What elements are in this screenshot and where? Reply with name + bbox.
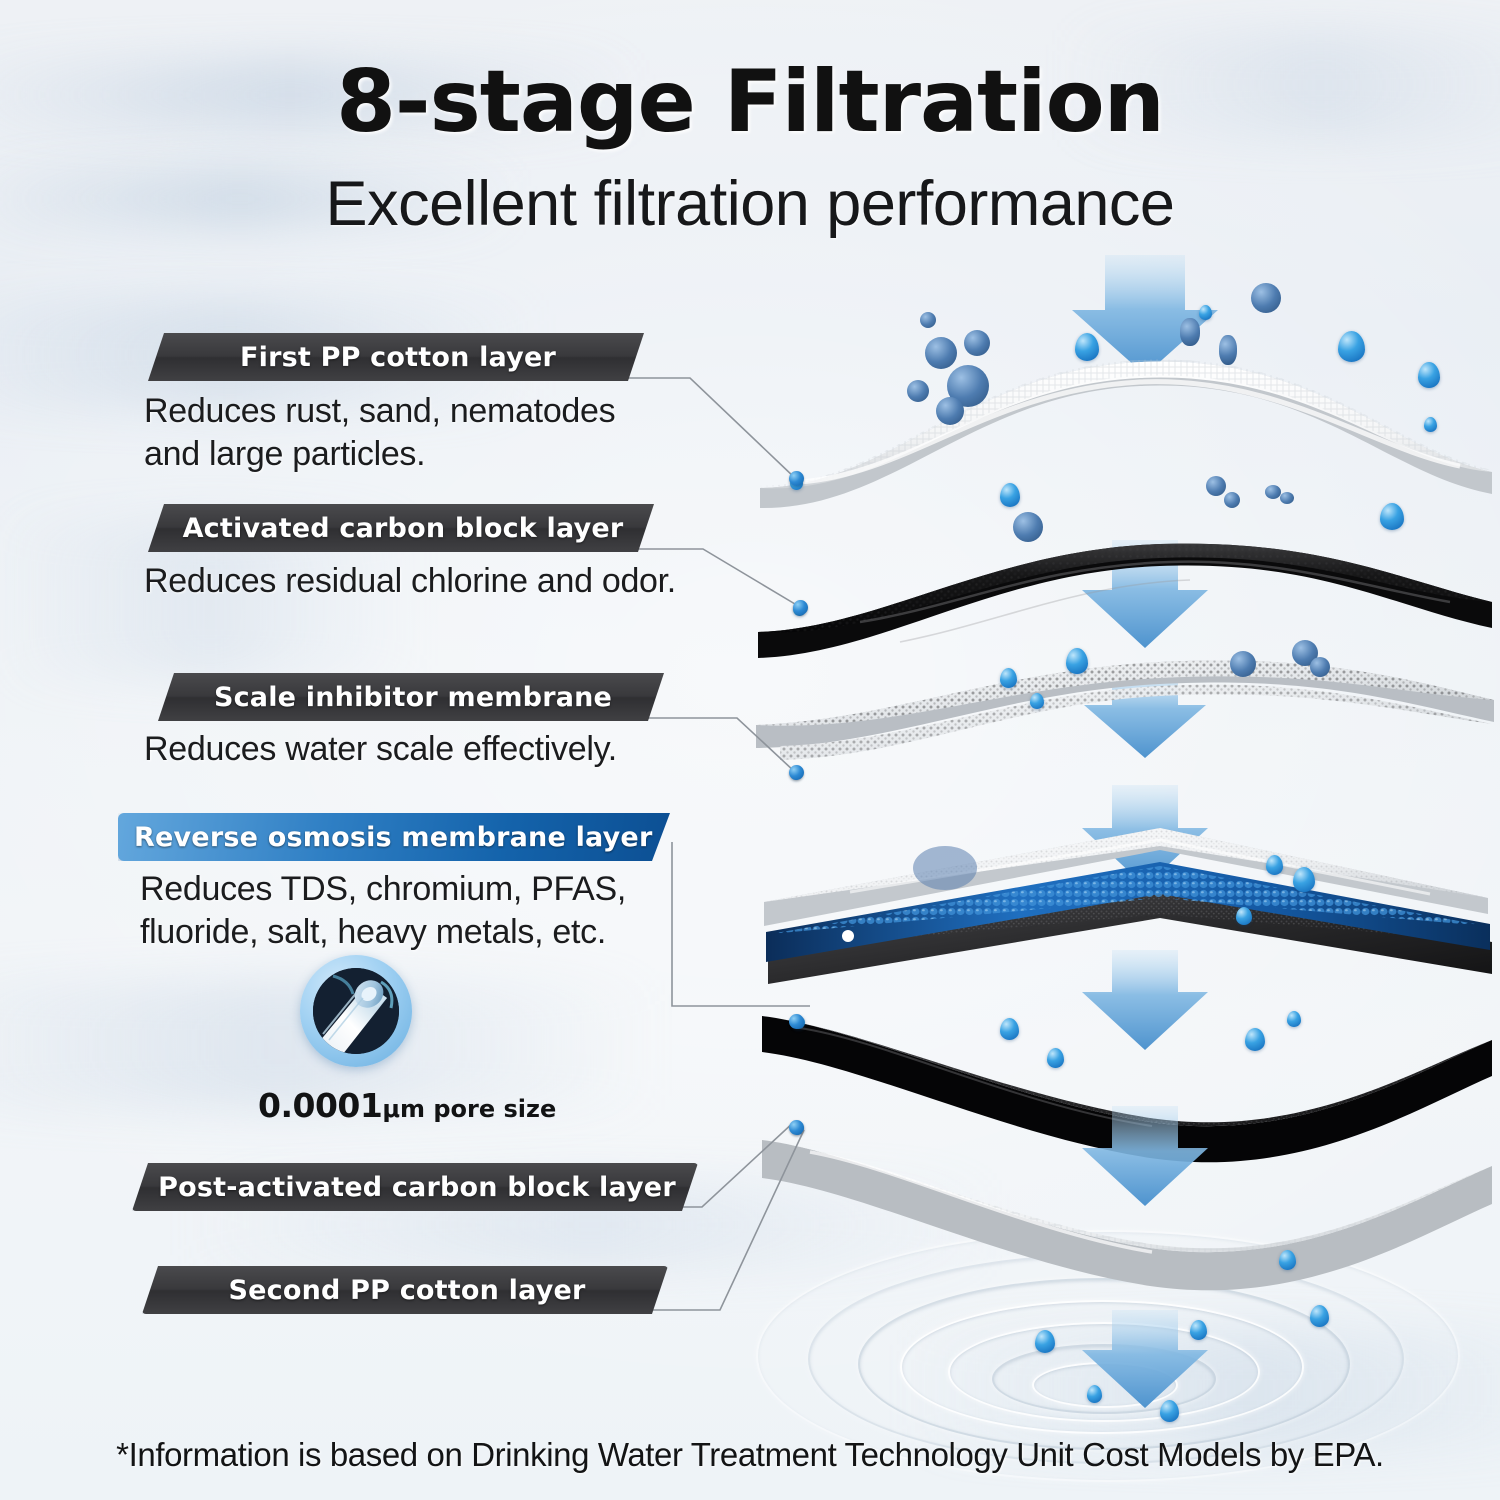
badge-label: Activated carbon block layer	[183, 513, 624, 544]
badge-label: Reverse osmosis membrane layer	[134, 822, 652, 853]
badge-label: Scale inhibitor membrane	[214, 682, 612, 713]
badge-label: Second PP cotton layer	[228, 1275, 585, 1306]
badge-reverse-osmosis-membrane[interactable]: Reverse osmosis membrane layer	[118, 813, 670, 861]
badge-post-activated-carbon-block[interactable]: Post-activated carbon block layer	[132, 1163, 698, 1211]
infographic-canvas: 8-stage Filtration Excellent filtration …	[0, 0, 1500, 1500]
page-title: 8-stage Filtration	[0, 52, 1500, 152]
badge-activated-carbon-block[interactable]: Activated carbon block layer	[148, 504, 654, 552]
description-scale-inhibitor-membrane: Reduces water scale effectively.	[144, 728, 744, 771]
pore-size-value: 0.0001	[258, 1086, 382, 1125]
ro-membrane-element-icon	[300, 955, 412, 1067]
description-line-2: and large particles.	[144, 433, 704, 476]
description-reverse-osmosis-membrane: Reduces TDS, chromium, PFAS, fluoride, s…	[140, 868, 740, 953]
leader-endpoint-dot	[789, 1014, 804, 1029]
badge-scale-inhibitor-membrane[interactable]: Scale inhibitor membrane	[158, 673, 664, 721]
leader-endpoint-dot	[789, 471, 804, 486]
description-activated-carbon-block: Reduces residual chlorine and odor.	[144, 560, 744, 603]
badge-label: First PP cotton layer	[240, 342, 556, 373]
description-line-1: Reduces water scale effectively.	[144, 728, 744, 771]
leader-endpoint-dot	[789, 765, 804, 780]
filter-layer-stack-illustration	[740, 250, 1500, 1410]
pore-size-unit: μm pore size	[382, 1095, 556, 1123]
badge-first-pp-cotton[interactable]: First PP cotton layer	[148, 333, 644, 381]
footnote-text: *Information is based on Drinking Water …	[0, 1436, 1500, 1474]
pore-size-label: 0.0001μm pore size	[258, 1086, 556, 1125]
description-line-1: Reduces TDS, chromium, PFAS,	[140, 868, 740, 911]
description-first-pp-cotton: Reduces rust, sand, nematodes and large …	[144, 390, 704, 475]
leader-endpoint-dot	[793, 600, 808, 615]
description-line-2: fluoride, salt, heavy metals, etc.	[140, 911, 740, 954]
leader-endpoint-dot	[789, 1120, 804, 1135]
badge-label: Post-activated carbon block layer	[158, 1172, 676, 1203]
description-line-1: Reduces rust, sand, nematodes	[144, 390, 704, 433]
pore-size-icon-wrapper	[300, 955, 412, 1067]
page-subtitle: Excellent filtration performance	[0, 168, 1500, 240]
layer-first-pp-cotton	[760, 360, 1492, 508]
badge-second-pp-cotton[interactable]: Second PP cotton layer	[142, 1266, 668, 1314]
description-line-1: Reduces residual chlorine and odor.	[144, 560, 744, 603]
